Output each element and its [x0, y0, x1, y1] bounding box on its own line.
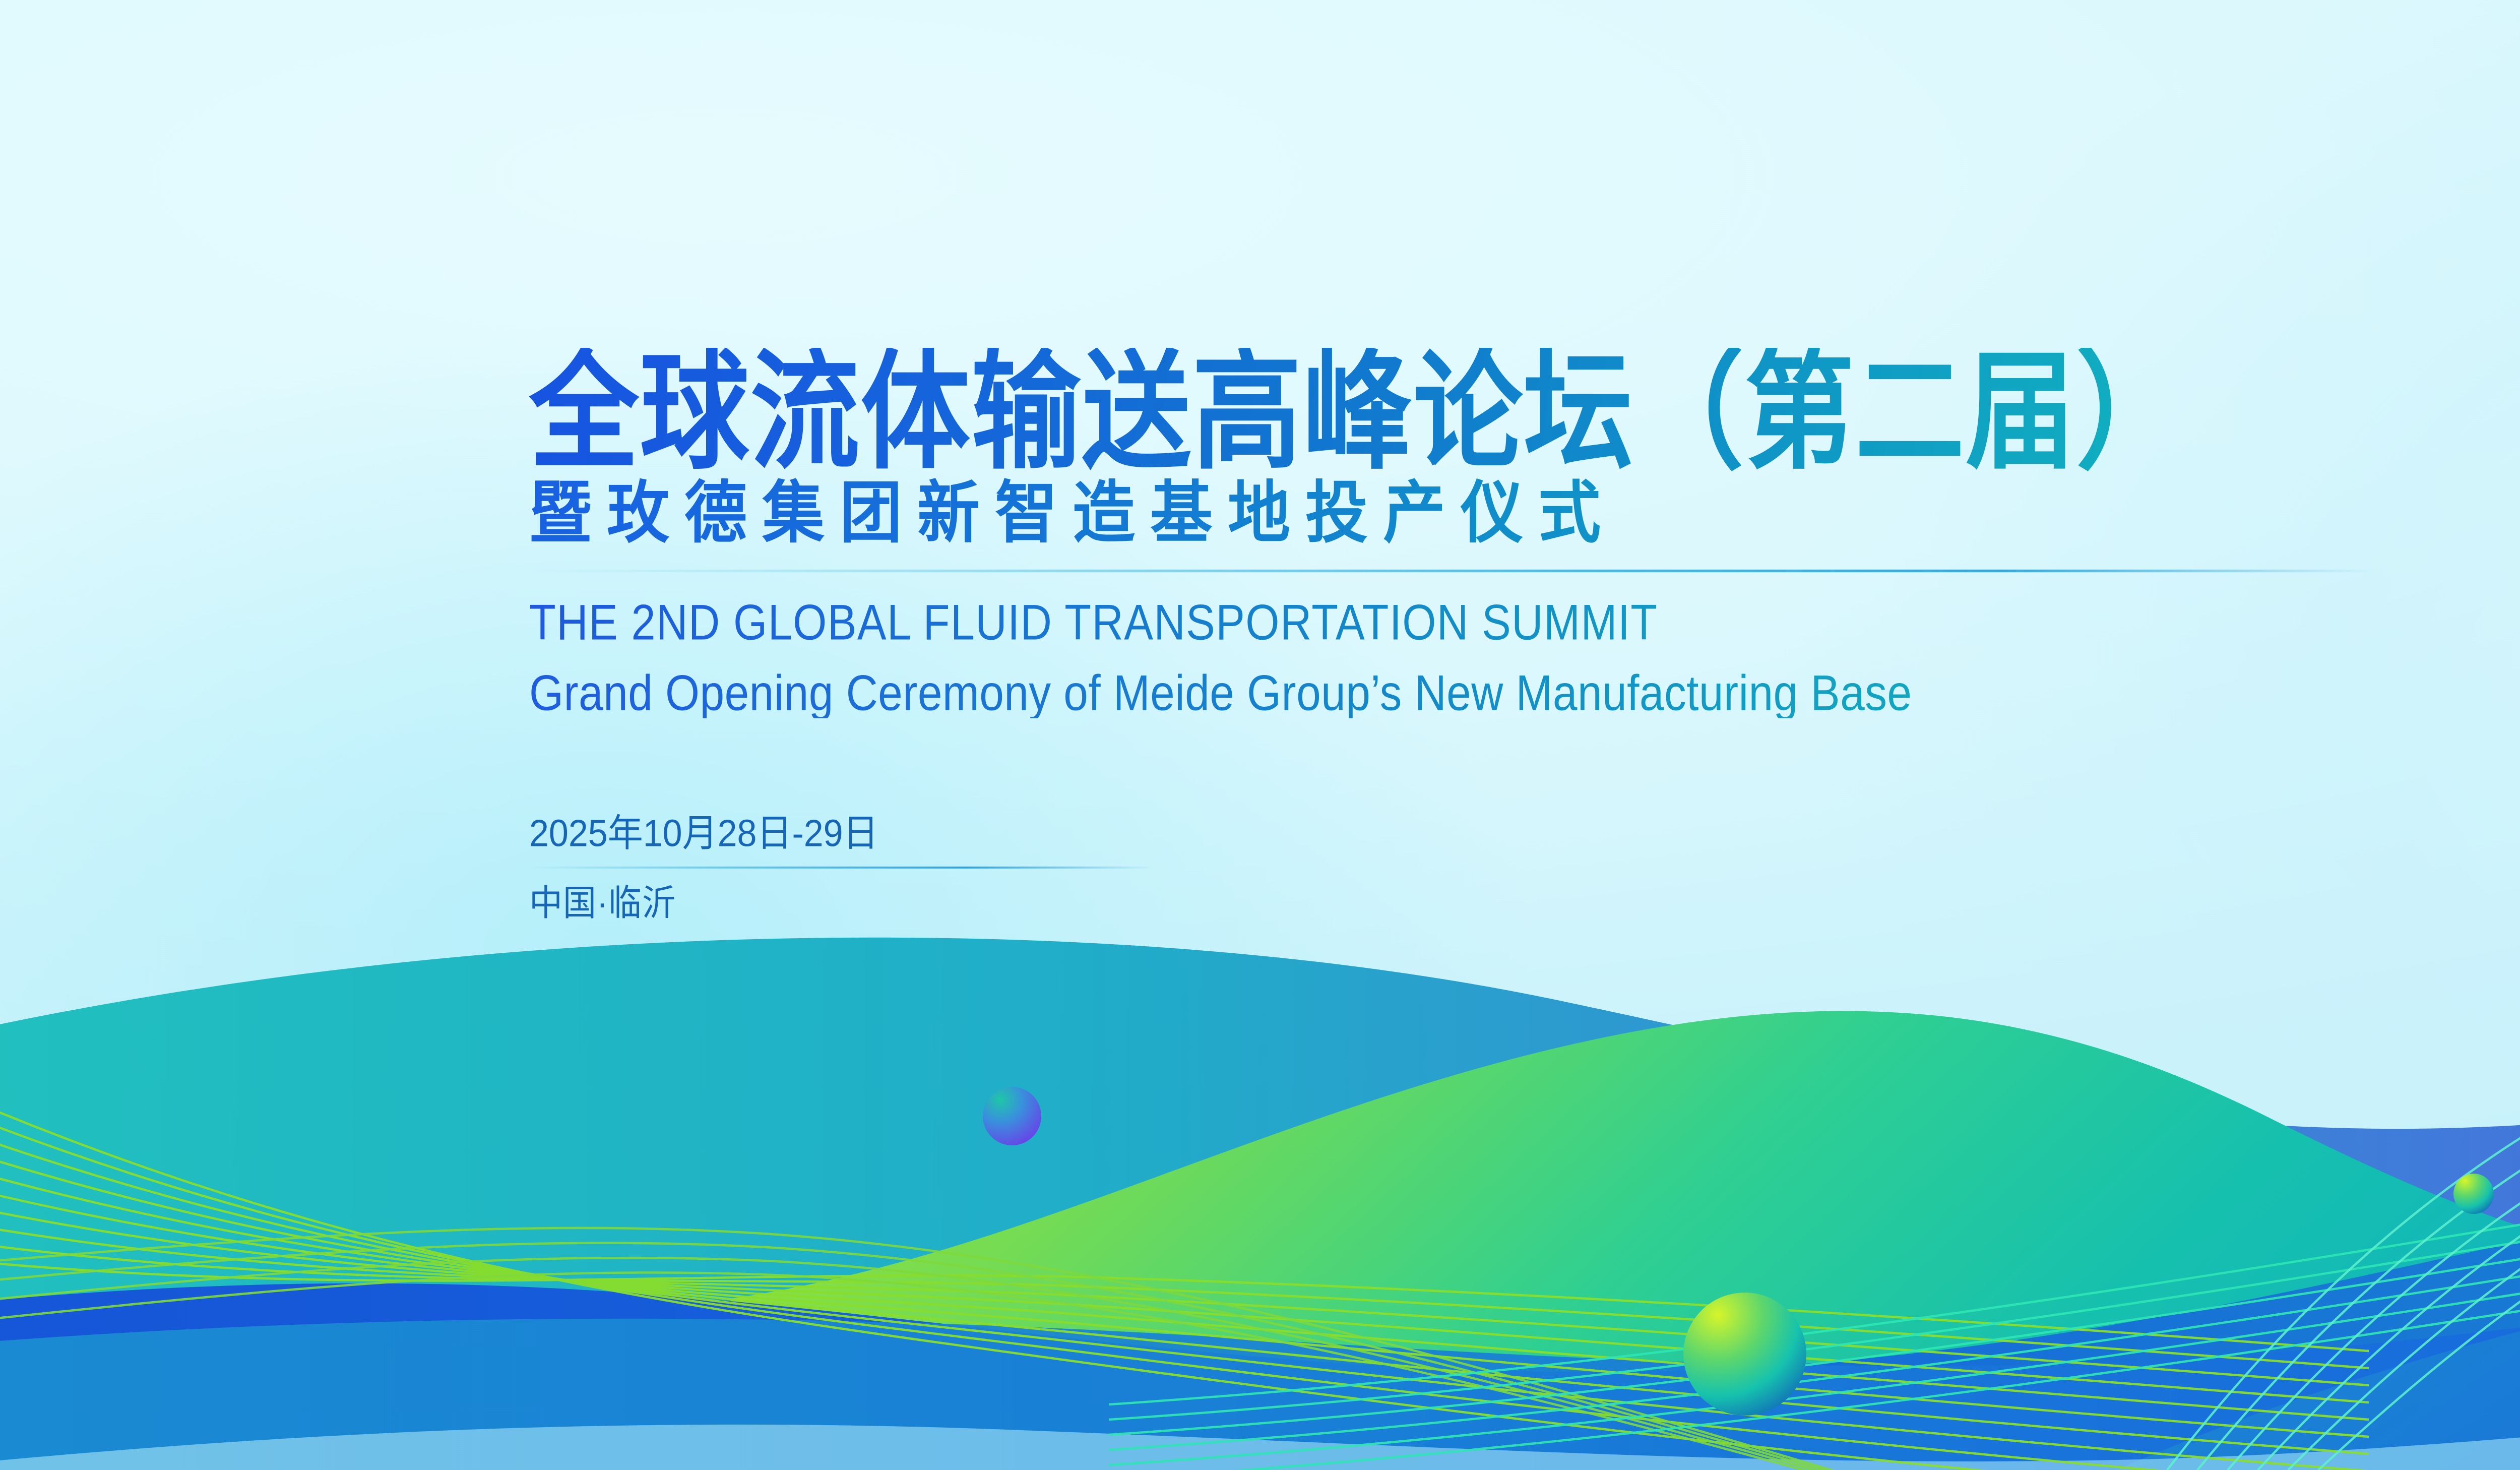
event-location: 中国·临沂: [529, 885, 1154, 921]
meta-divider: [529, 867, 1154, 869]
event-date: 2025年10月28日-29日: [529, 814, 1154, 852]
page-subtitle: 暨玫德集团新智造基地投产仪式: [529, 478, 2520, 549]
sphere-green-large: [1683, 1293, 1806, 1416]
page-title: 全球流体输送高峰论坛（第二届）: [529, 348, 2520, 476]
english-title: THE 2ND GLOBAL FLUID TRANSPORTATION SUMM…: [529, 597, 2520, 648]
event-meta: 2025年10月28日-29日 中国·临沂: [529, 814, 1154, 918]
english-subtitle: Grand Opening Ceremony of Meide Group’s …: [529, 668, 2520, 718]
poster-canvas: 全球流体输送高峰论坛（第二届） 暨玫德集团新智造基地投产仪式 THE 2ND G…: [0, 0, 2520, 1470]
sphere-green-small: [2453, 1174, 2494, 1214]
poster-text-block: 全球流体输送高峰论坛（第二届） 暨玫德集团新智造基地投产仪式 THE 2ND G…: [529, 348, 2520, 918]
title-divider: [529, 570, 2374, 572]
sphere-teal-purple-small: [983, 1087, 1041, 1145]
